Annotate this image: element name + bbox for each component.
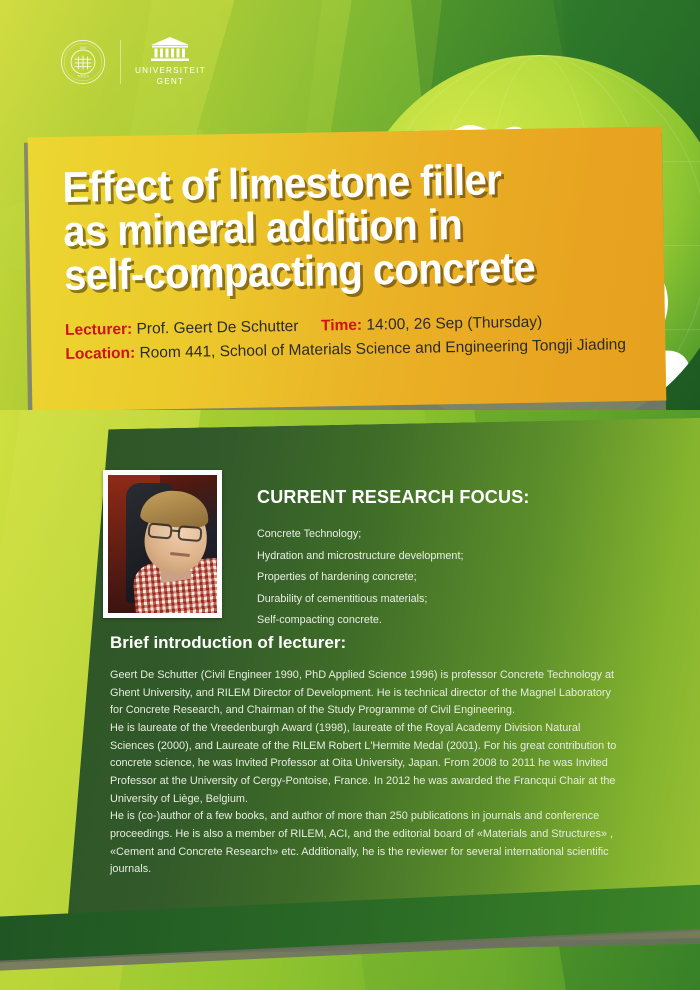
research-focus-section: CURRENT RESEARCH FOCUS: Concrete Technol… <box>257 487 667 632</box>
location-label: Location: <box>65 344 135 362</box>
lecturer-intro-paragraph: He is laureate of the Vreedenburgh Award… <box>110 720 626 808</box>
lecturer-intro-paragraph: He is (co-)author of a few books, and au… <box>110 808 626 879</box>
photo-glasses-right-lens <box>177 525 202 542</box>
time-value: 14:00, 26 Sep (Thursday) <box>366 313 542 333</box>
svg-text:TONGJI: TONGJI <box>77 74 89 78</box>
svg-text:1907: 1907 <box>79 46 86 50</box>
list-item: Hydration and microstructure development… <box>257 546 667 568</box>
lecturer-label: Lecturer: <box>65 320 132 338</box>
poster-title-line3: self-compacting concrete <box>64 245 591 298</box>
tongji-university-seal-icon: 1907 TONGJI <box>60 39 106 85</box>
list-item: Self-compacting concrete. <box>257 610 667 632</box>
list-item: Durability of cementitious materials; <box>257 589 667 611</box>
lecturer-photo <box>108 475 217 613</box>
logo-group: 1907 TONGJI UNIVERSITEIT GENT <box>60 36 206 88</box>
list-item: Properties of hardening concrete; <box>257 567 667 589</box>
poster-root: 1907 TONGJI UNIVERSITEIT GENT <box>0 0 700 990</box>
title-panel: Effect of limestone filler as mineral ad… <box>28 126 667 411</box>
ghent-university-name-line2: GENT <box>135 77 206 88</box>
time-label: Time: <box>321 316 362 334</box>
location-value: Room 441, School of Materials Science an… <box>139 336 626 361</box>
lecturer-intro-paragraph: Geert De Schutter (Civil Engineer 1990, … <box>110 667 626 720</box>
ghent-university-building-icon <box>149 36 191 62</box>
photo-glasses-left-lens <box>147 523 172 540</box>
lecturer-intro-heading: Brief introduction of lecturer: <box>110 633 626 653</box>
research-focus-list: Concrete Technology; Hydration and micro… <box>257 524 667 632</box>
research-focus-heading: CURRENT RESEARCH FOCUS: <box>257 487 667 508</box>
lecturer-value: Prof. Geert De Schutter <box>136 317 298 337</box>
ghent-university-logo: UNIVERSITEIT GENT <box>135 36 206 88</box>
ghent-university-name-line1: UNIVERSITEIT <box>135 66 206 77</box>
lecturer-photo-frame <box>103 470 222 618</box>
logo-divider <box>120 40 121 84</box>
lecturer-intro-section: Brief introduction of lecturer: Geert De… <box>110 633 626 879</box>
list-item: Concrete Technology; <box>257 524 667 546</box>
event-meta: Lecturer: Prof. Geert De Schutter Time: … <box>65 309 632 367</box>
